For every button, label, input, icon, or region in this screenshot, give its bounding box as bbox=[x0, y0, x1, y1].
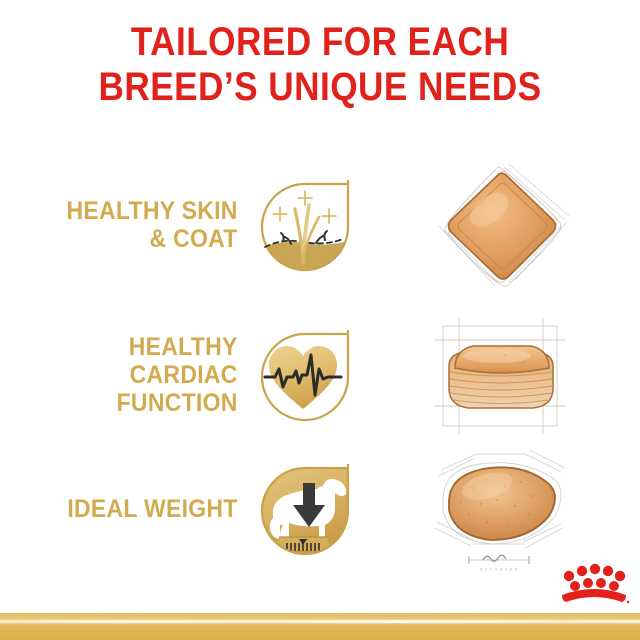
feature-badge bbox=[245, 459, 360, 559]
hair-follicle-skin-icon bbox=[253, 175, 353, 275]
diamond-kibble-icon bbox=[425, 160, 575, 290]
loaf-kibble-icon bbox=[425, 310, 575, 440]
feature-kibble bbox=[360, 310, 640, 440]
band-highlight-stripe bbox=[0, 620, 640, 623]
footer-gold-band bbox=[0, 613, 640, 640]
heart-ecg-icon bbox=[253, 325, 353, 425]
feature-label: HEALTHY CARDIAC FUNCTION bbox=[20, 333, 245, 417]
feature-label: IDEAL WEIGHT bbox=[20, 495, 245, 523]
feature-row-ideal-weight: IDEAL WEIGHT bbox=[0, 450, 640, 568]
page-title: TAILORED FOR EACH BREED’S UNIQUE NEEDS bbox=[0, 20, 640, 110]
royal-canin-crown-icon bbox=[554, 555, 632, 607]
title-line-1: TAILORED FOR EACH bbox=[38, 20, 601, 65]
infographic-page: TAILORED FOR EACH BREED’S UNIQUE NEEDS H… bbox=[0, 0, 640, 640]
feature-badge bbox=[245, 175, 360, 275]
feature-kibble bbox=[360, 160, 640, 290]
feature-badge bbox=[245, 325, 360, 425]
feature-row-cardiac-function: HEALTHY CARDIAC FUNCTION bbox=[0, 316, 640, 434]
title-line-2: BREED’S UNIQUE NEEDS bbox=[38, 65, 601, 110]
pillow-kibble-icon bbox=[425, 444, 575, 574]
dog-on-scale-icon bbox=[253, 459, 353, 559]
feature-label: HEALTHY SKIN & COAT bbox=[20, 197, 245, 253]
feature-row-healthy-skin-coat: HEALTHY SKIN & COAT bbox=[0, 166, 640, 284]
